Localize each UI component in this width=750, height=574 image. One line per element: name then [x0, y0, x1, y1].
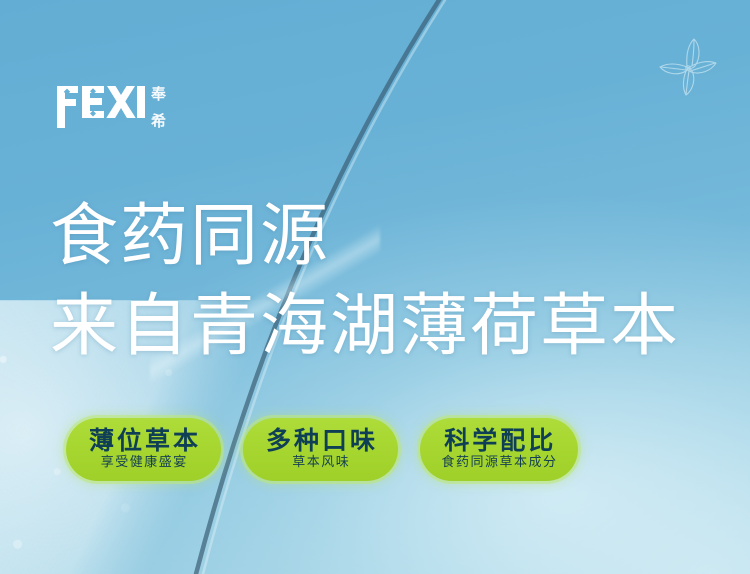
mint-leaf-icon	[650, 33, 722, 101]
feature-badge-2[interactable]: 多种口味 草本风味	[243, 418, 398, 481]
feature-badge-3[interactable]: 科学配比 食药同源草本成分	[420, 418, 578, 481]
feature-badge-1-subtitle: 享受健康盛宴	[99, 456, 188, 471]
brand-logo-cn-bottom: 希	[151, 114, 166, 129]
feature-badge-list: 薄位草本 享受健康盛宴 多种口味 草本风味 科学配比 食药同源草本成分	[66, 418, 578, 481]
headline-line-1: 食药同源	[50, 192, 680, 282]
page-title: 食药同源 来自青海湖薄荷草本	[50, 192, 680, 372]
fexi-wordmark-icon	[57, 86, 145, 128]
feature-badge-3-subtitle: 食药同源草本成分	[440, 456, 558, 471]
feature-badge-2-title: 多种口味	[263, 427, 378, 454]
feature-badge-3-title: 科学配比	[441, 427, 556, 454]
product-banner: 奉 希 食药同源 来自青海湖薄荷草本 薄位草本 享受健康盛宴 多种口味 草本风味…	[0, 0, 750, 574]
feature-badge-1-title: 薄位草本	[86, 427, 201, 454]
brand-logo-cn: 奉 希	[151, 86, 166, 129]
brand-logo-cn-top: 奉	[151, 87, 166, 102]
feature-badge-2-subtitle: 草本风味	[291, 456, 351, 471]
brand-logo[interactable]: 奉 希	[57, 86, 166, 129]
feature-badge-1[interactable]: 薄位草本 享受健康盛宴	[66, 418, 221, 481]
headline-line-2: 来自青海湖薄荷草本	[50, 282, 680, 372]
